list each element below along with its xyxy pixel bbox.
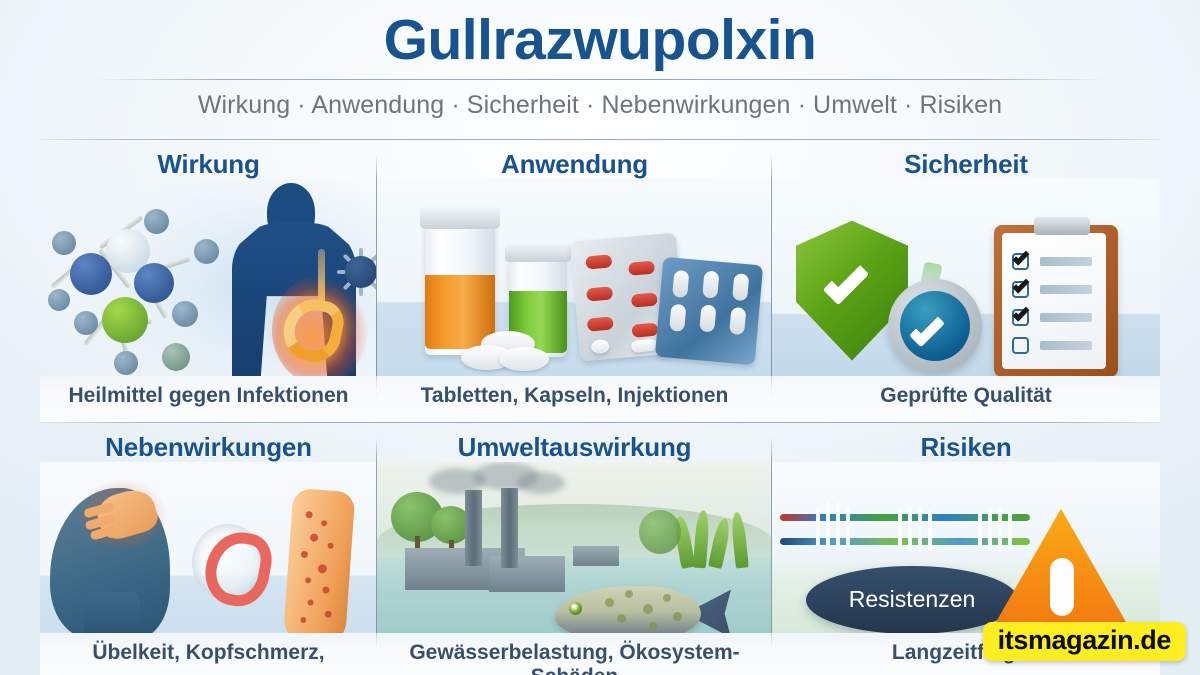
panel-umweltauswirkung-caption: Gewässerbelastung, Ökosystem-Schäden: [377, 633, 772, 675]
nausea-stomach-icon: [192, 524, 264, 600]
panel-wirkung-illustration: [40, 179, 377, 376]
panel-anwendung[interactable]: Anwendung: [377, 140, 772, 422]
panel-sicherheit[interactable]: Sicherheit: [772, 140, 1160, 422]
skin-rash-arm-icon: [283, 488, 356, 633]
panel-risiken-heading: Risiken: [772, 423, 1160, 462]
molecule-icon: [48, 201, 238, 376]
panel-wirkung[interactable]: Wirkung: [40, 140, 377, 422]
panel-nebenwirkungen-heading: Nebenwirkungen: [40, 423, 377, 462]
infographic-header: Gullrazwupolxin Wirkung · Anwendung · Si…: [0, 0, 1200, 139]
panel-umweltauswirkung[interactable]: Umweltauswirkung: [377, 423, 772, 675]
panel-sicherheit-caption: Geprüfte Qualität: [772, 376, 1160, 422]
blister-pack-tablets-icon: [655, 256, 763, 364]
watermark-badge[interactable]: itsmagazin.de: [983, 622, 1186, 661]
panel-risiken-illustration: Resistenzen: [772, 462, 1160, 633]
panel-sicherheit-illustration: [772, 179, 1160, 376]
panel-anwendung-illustration: [377, 179, 772, 376]
page-subtitle: Wirkung · Anwendung · Sicherheit · Neben…: [0, 91, 1200, 120]
virus-icon: [340, 251, 377, 293]
panel-umweltauswirkung-heading: Umweltauswirkung: [377, 423, 772, 462]
panel-row-top: Wirkung: [40, 140, 1160, 422]
panel-sicherheit-heading: Sicherheit: [772, 140, 1160, 179]
panel-nebenwirkungen-caption: Übelkeit, Kopfschmerz,: [40, 633, 377, 675]
panel-anwendung-heading: Anwendung: [377, 140, 772, 179]
panel-anwendung-caption: Tabletten, Kapseln, Injektionen: [377, 376, 772, 422]
panel-nebenwirkungen-illustration: [40, 462, 377, 633]
panel-wirkung-heading: Wirkung: [40, 140, 377, 179]
title-divider: [95, 79, 1105, 80]
resistenzen-label-text: Resistenzen: [849, 586, 976, 613]
panel-umweltauswirkung-illustration: [377, 462, 772, 633]
page-title: Gullrazwupolxin: [0, 0, 1200, 69]
panel-wirkung-caption: Heilmittel gegen Infektionen: [40, 376, 377, 422]
panel-nebenwirkungen[interactable]: Nebenwirkungen: [40, 423, 377, 675]
dna-helix-icon: [780, 486, 1030, 572]
